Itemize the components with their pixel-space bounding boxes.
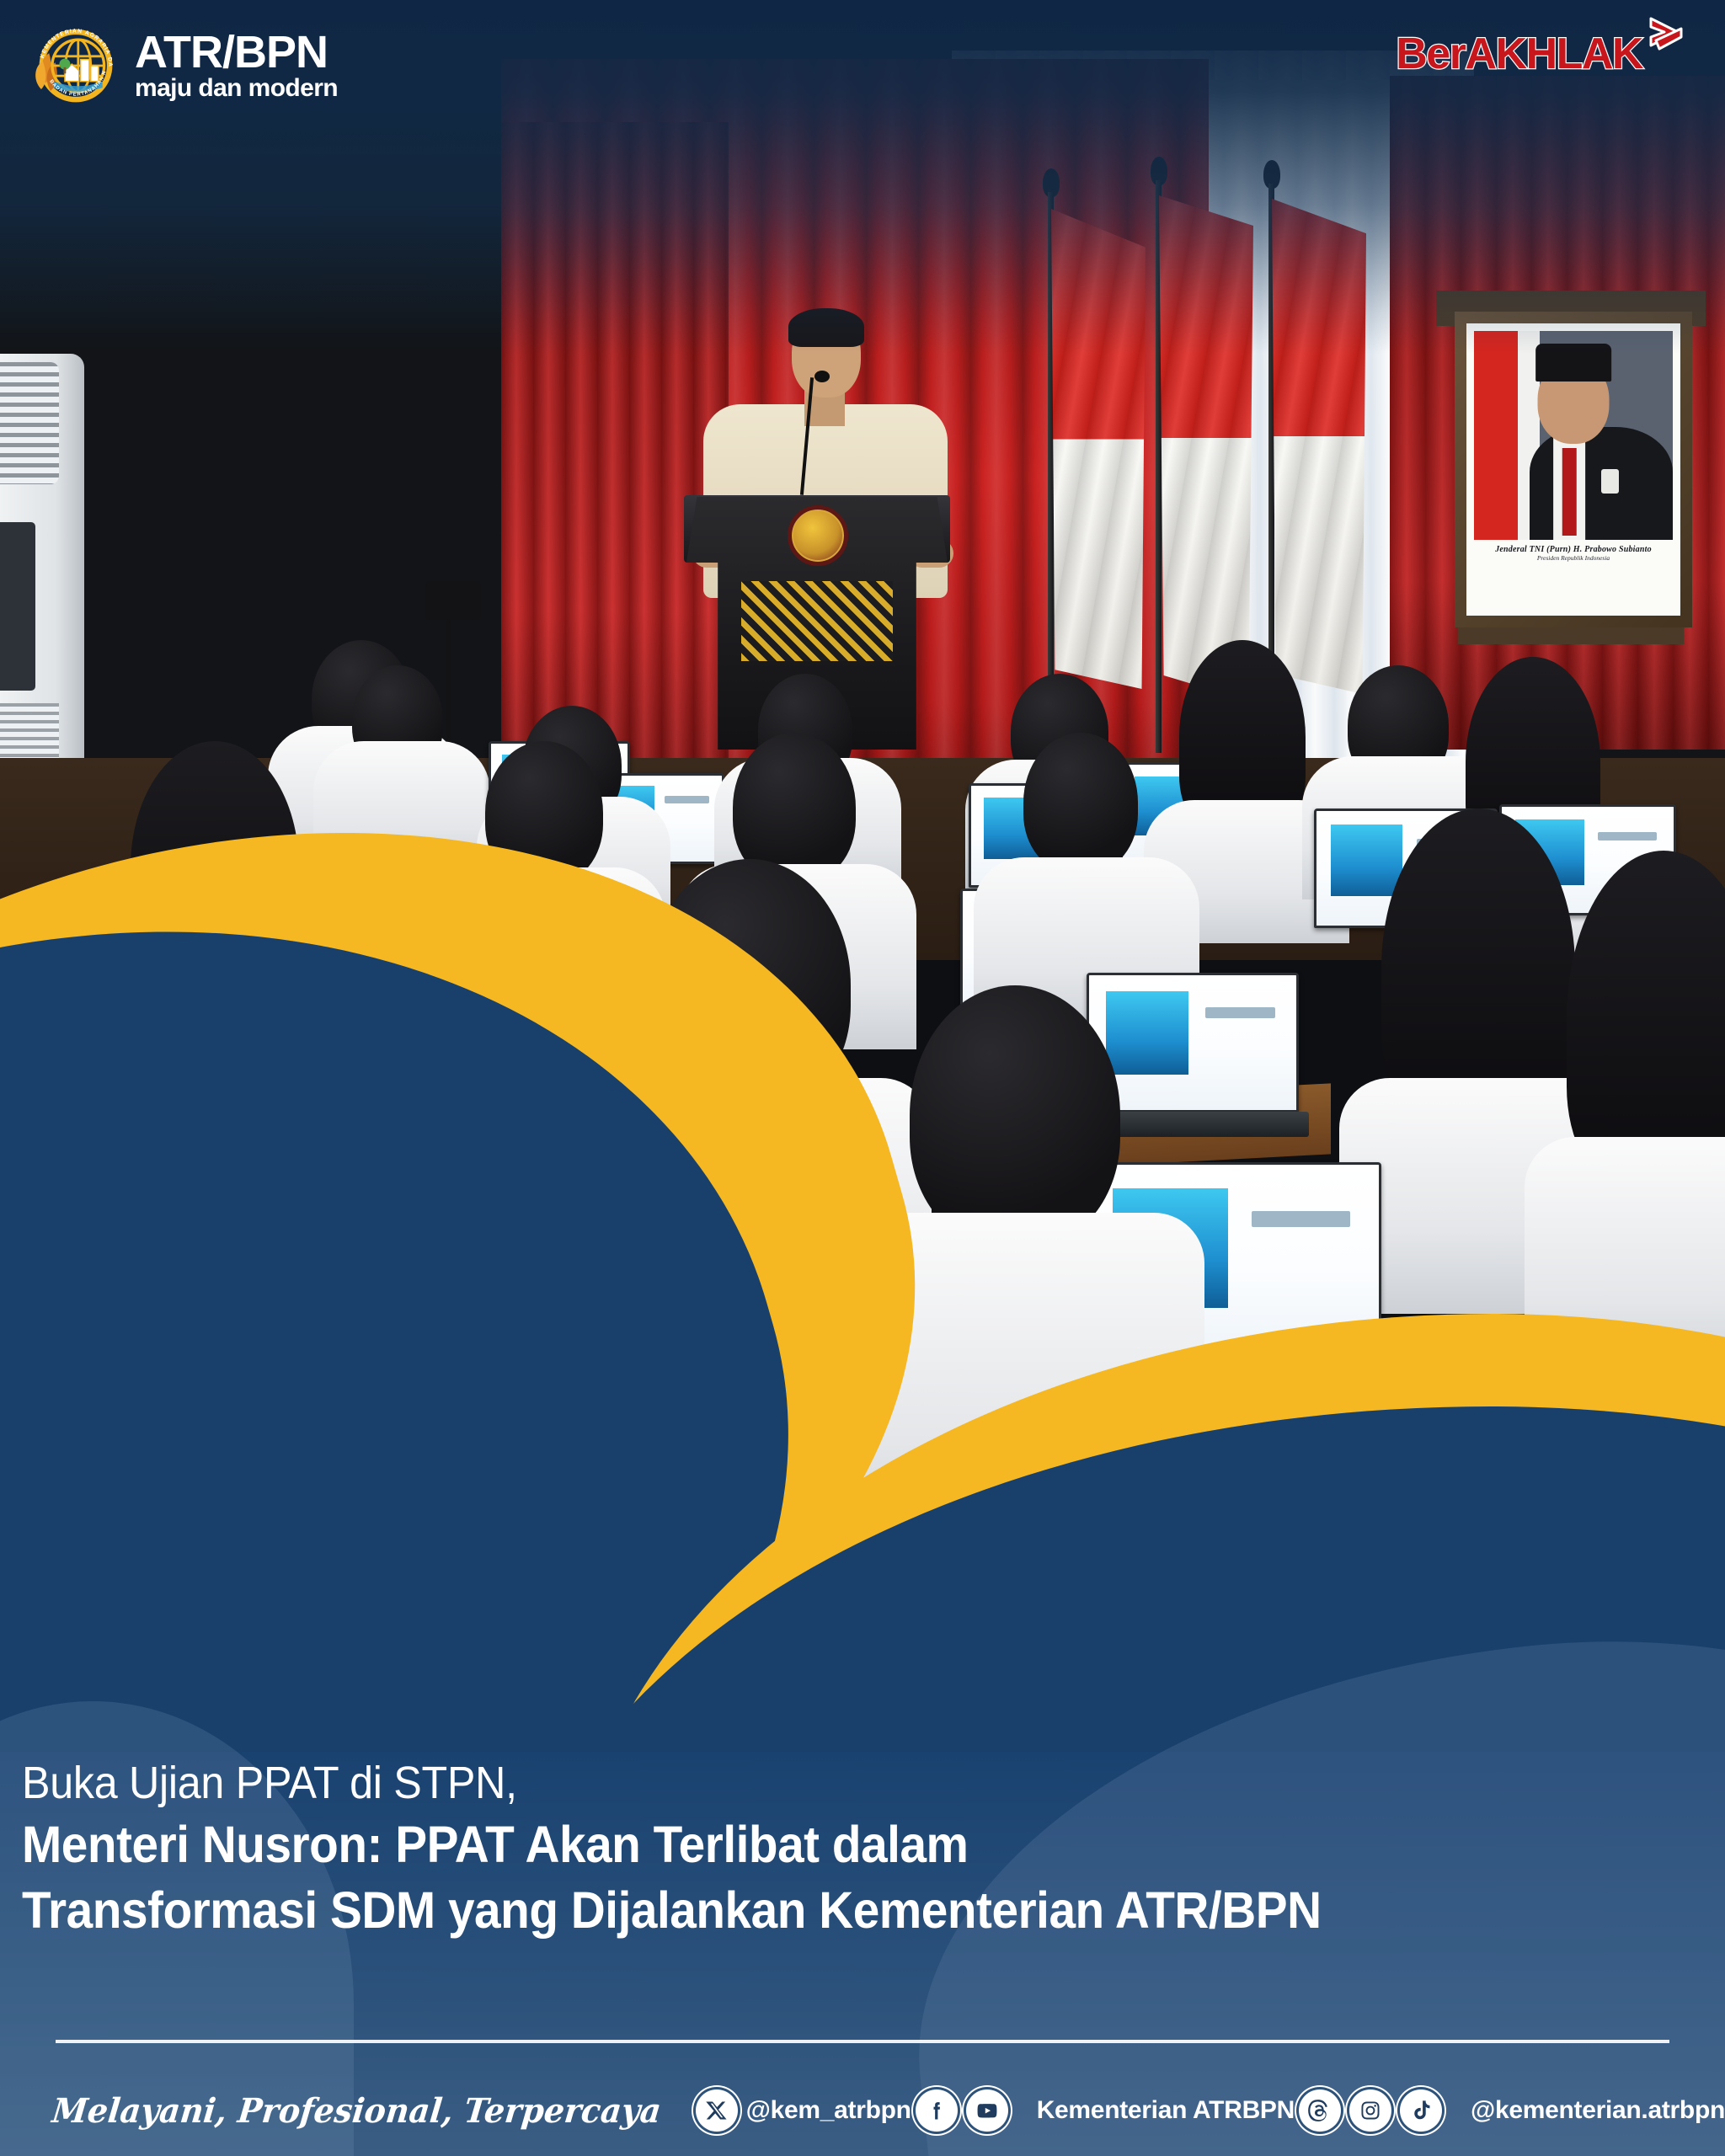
portrait-mat: Jenderal TNI (Purn) H. Prabowo Subianto … (1466, 323, 1680, 616)
berakhlak-label: BerAKHLAK (1396, 29, 1642, 79)
podium-gold-carving (741, 581, 893, 661)
chevron-right-arrow-icon (1644, 15, 1691, 72)
portrait-caption-name: Jenderal TNI (Purn) H. Prabowo Subianto (1474, 540, 1673, 554)
attendee-head (1023, 733, 1138, 873)
headline-kicker: Buka Ujian PPAT di STPN, (22, 1756, 1573, 1812)
footer-divider (56, 2040, 1669, 2043)
atr-bpn-logo-text: ATR/BPN maju dan modern (135, 30, 338, 102)
atr-bpn-logo: KEMENTERIAN AGRARIA DAN TATA RUANG BADAN… (29, 19, 338, 113)
poster-canvas: Jenderal TNI (Purn) H. Prabowo Subianto … (0, 0, 1725, 2156)
air-conditioner-grill-top (0, 362, 59, 484)
camera-on-tripod (425, 581, 481, 620)
facebook-youtube-handle[interactable]: Kementerian ATRBPN (1037, 2096, 1295, 2125)
portrait-caption-role: Presiden Republik Indonesia (1474, 554, 1673, 562)
microphone-head-icon (814, 371, 830, 382)
presidential-portrait-photo (1474, 331, 1673, 540)
facebook-icon[interactable] (916, 2089, 958, 2132)
threads-icon[interactable] (1299, 2089, 1341, 2132)
social-group-x[interactable]: @kem_atrbpn (696, 2089, 911, 2132)
air-conditioner-panel (0, 522, 35, 691)
logo-title: ATR/BPN (135, 30, 338, 75)
x-twitter-icon[interactable] (696, 2089, 738, 2132)
presidential-portrait-frame: Jenderal TNI (Purn) H. Prabowo Subianto … (1455, 312, 1692, 627)
berakhlak-logo: BerAKHLAK (1396, 29, 1691, 79)
attendee-head (910, 985, 1120, 1246)
footer-bar: Melayani, Profesional, Terpercaya @kem_a… (0, 2065, 1725, 2156)
footer-tagline: Melayani, Profesional, Terpercaya (51, 2091, 664, 2131)
instagram-icon[interactable] (1349, 2089, 1391, 2132)
social-group-threads-instagram-tiktok[interactable]: @kementerian.atrbpn (1299, 2089, 1725, 2132)
social-group-facebook-youtube[interactable]: Kementerian ATRBPN (916, 2089, 1295, 2132)
headline-line-2: Transformasi SDM yang Dijalankan Kemente… (22, 1877, 1573, 1943)
atr-bpn-globe-logo-icon: KEMENTERIAN AGRARIA DAN TATA RUANG BADAN… (29, 19, 123, 113)
headline-block: Buka Ujian PPAT di STPN, Menteri Nusron:… (22, 1756, 1690, 1943)
headline-line-1: Menteri Nusron: PPAT Akan Terlibat dalam (22, 1812, 1573, 1877)
garuda-emblem-icon (788, 505, 848, 566)
logo-subtitle: maju dan modern (135, 76, 338, 101)
tiktok-icon[interactable] (1400, 2089, 1442, 2132)
youtube-icon[interactable] (966, 2089, 1008, 2132)
tiktok-instagram-handle[interactable]: @kementerian.atrbpn (1471, 2096, 1725, 2125)
x-handle[interactable]: @kem_atrbpn (746, 2096, 911, 2125)
